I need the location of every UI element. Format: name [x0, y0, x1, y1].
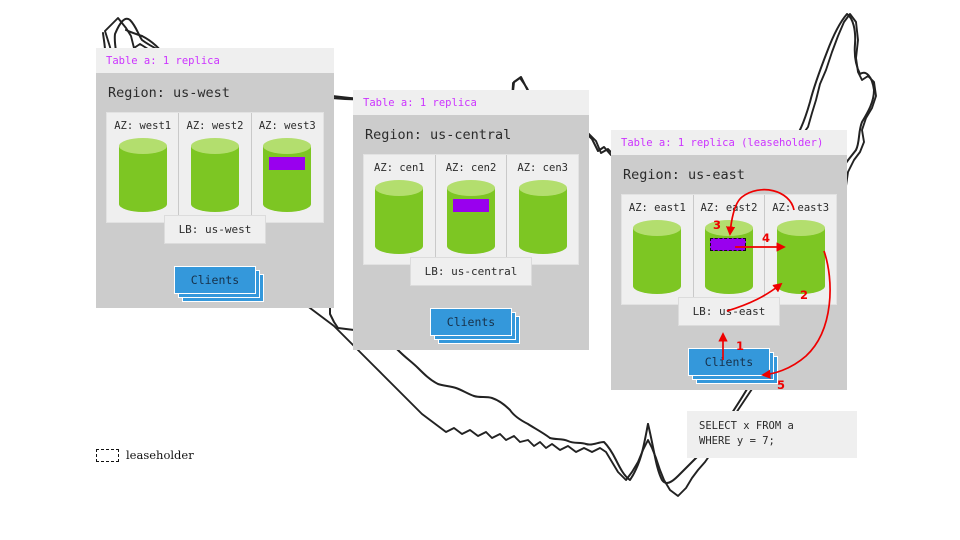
flow-step-label-3: 3	[713, 218, 721, 232]
az-label-west3: AZ: west3	[256, 120, 319, 132]
region-panel-us-central: Table a: 1 replica Region: us-central AZ…	[353, 90, 589, 350]
region-title-us-east: Region: us-east	[623, 167, 837, 183]
cylinder-top	[777, 220, 825, 236]
cylinder-body	[375, 188, 423, 246]
az-east1[interactable]: AZ: east1	[622, 195, 693, 304]
cylinder-body	[447, 188, 495, 246]
cylinder-body	[777, 228, 825, 286]
node-cylinder-cen2[interactable]	[447, 180, 495, 254]
az-label-cen2: AZ: cen2	[440, 162, 503, 174]
region-body-us-west: Region: us-west AZ: west1 AZ: west2	[96, 73, 334, 308]
cylinder-top	[447, 180, 495, 196]
clients-stack-us-central[interactable]: Clients	[430, 308, 512, 336]
flow-step-label-1: 1	[736, 339, 744, 353]
region-title-us-central: Region: us-central	[365, 127, 579, 143]
region-header-us-east: Table a: 1 replica (leaseholder)	[611, 130, 847, 155]
cylinder-body	[705, 228, 753, 286]
az-row-us-west: AZ: west1 AZ: west2 AZ	[106, 112, 324, 223]
az-row-us-central: AZ: cen1 AZ: cen2	[363, 154, 579, 265]
az-label-cen1: AZ: cen1	[368, 162, 431, 174]
node-cylinder-cen1[interactable]	[375, 180, 423, 254]
az-west3[interactable]: AZ: west3	[251, 113, 323, 222]
flow-step-label-4: 4	[762, 231, 770, 245]
cylinder-body	[633, 228, 681, 286]
cylinder-body	[263, 146, 311, 204]
cylinder-top	[119, 138, 167, 154]
leaseholder-block-east2	[710, 238, 746, 251]
clients-stack-us-west[interactable]: Clients	[174, 266, 256, 294]
az-cen1[interactable]: AZ: cen1	[364, 155, 435, 264]
region-header-us-west: Table a: 1 replica	[96, 48, 334, 73]
az-label-west1: AZ: west1	[111, 120, 174, 132]
az-cen2[interactable]: AZ: cen2	[435, 155, 507, 264]
flow-step-label-2: 2	[800, 288, 808, 302]
clients-button-us-west[interactable]: Clients	[174, 266, 256, 294]
load-balancer-us-west[interactable]: LB: us-west	[164, 215, 267, 244]
node-cylinder-west1[interactable]	[119, 138, 167, 212]
clients-button-us-east[interactable]: Clients	[688, 348, 770, 376]
region-header-us-central: Table a: 1 replica	[353, 90, 589, 115]
cylinder-top	[263, 138, 311, 154]
legend: leaseholder	[96, 448, 194, 462]
az-cen3[interactable]: AZ: cen3	[506, 155, 578, 264]
cylinder-body	[191, 146, 239, 204]
cylinder-top	[375, 180, 423, 196]
load-balancer-us-east[interactable]: LB: us-east	[678, 297, 781, 326]
cylinder-top	[191, 138, 239, 154]
region-panel-us-east: Table a: 1 replica (leaseholder) Region:…	[611, 130, 847, 390]
az-west1[interactable]: AZ: west1	[107, 113, 178, 222]
node-cylinder-west2[interactable]	[191, 138, 239, 212]
cylinder-top	[519, 180, 567, 196]
clients-stack-us-east[interactable]: Clients	[688, 348, 770, 376]
node-cylinder-west3[interactable]	[263, 138, 311, 212]
az-label-east3: AZ: east3	[769, 202, 832, 214]
legend-label-leaseholder: leaseholder	[126, 448, 194, 462]
node-cylinder-east1[interactable]	[633, 220, 681, 294]
clients-button-us-central[interactable]: Clients	[430, 308, 512, 336]
cylinder-body	[119, 146, 167, 204]
flow-step-label-5: 5	[777, 378, 785, 392]
region-panel-us-west: Table a: 1 replica Region: us-west AZ: w…	[96, 48, 334, 308]
node-cylinder-cen3[interactable]	[519, 180, 567, 254]
az-west2[interactable]: AZ: west2	[178, 113, 250, 222]
load-balancer-us-central[interactable]: LB: us-central	[410, 257, 533, 286]
replica-block-cen2	[453, 199, 489, 212]
az-east2[interactable]: AZ: east2	[693, 195, 765, 304]
replica-block-west3	[269, 157, 305, 170]
az-label-west2: AZ: west2	[183, 120, 246, 132]
az-label-east2: AZ: east2	[698, 202, 761, 214]
az-label-east1: AZ: east1	[626, 202, 689, 214]
node-cylinder-east3[interactable]	[777, 220, 825, 294]
region-title-us-west: Region: us-west	[108, 85, 324, 101]
region-body-us-central: Region: us-central AZ: cen1 AZ: cen2	[353, 115, 589, 350]
cylinder-top	[633, 220, 681, 236]
az-label-cen3: AZ: cen3	[511, 162, 574, 174]
sql-query-box: SELECT x FROM a WHERE y = 7;	[687, 411, 857, 458]
region-body-us-east: Region: us-east AZ: east1 AZ: east2	[611, 155, 847, 390]
cylinder-body	[519, 188, 567, 246]
diagram-canvas: Table a: 1 replica Region: us-west AZ: w…	[0, 0, 960, 540]
leaseholder-swatch-icon	[96, 449, 119, 462]
